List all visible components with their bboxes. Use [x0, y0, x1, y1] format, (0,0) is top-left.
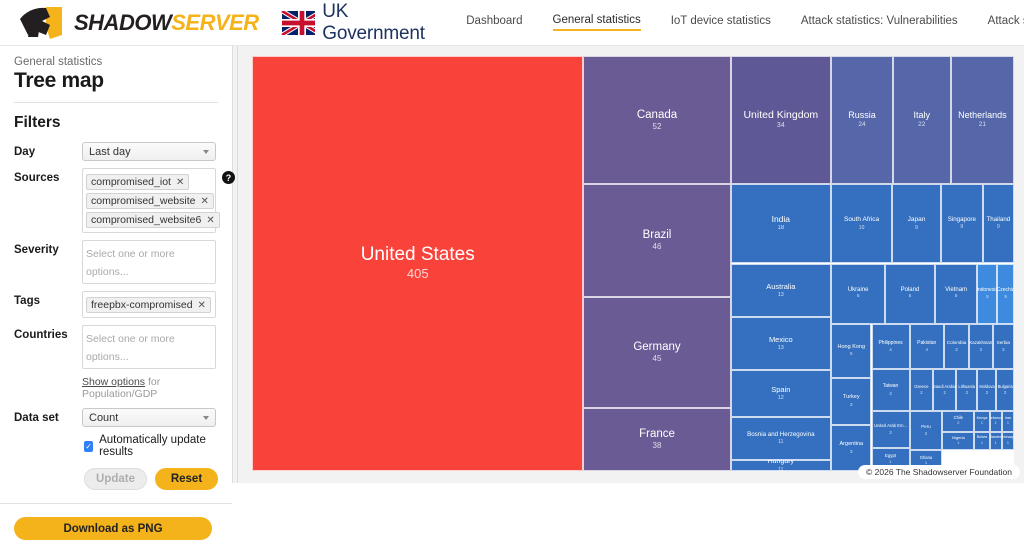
treemap-cell[interactable]: France38 [583, 408, 730, 471]
filter-row-tags: Tags freepbx-compromised✕ [14, 291, 218, 318]
copyright-label: © 2026 The Shadowserver Foundation [858, 465, 1020, 479]
remove-token-icon[interactable]: ✕ [206, 215, 214, 226]
dataset-label: Data set [14, 408, 82, 424]
treemap-cell[interactable]: Hungary11 [731, 460, 832, 471]
treemap-cell-label: Russia [848, 111, 876, 120]
treemap-cell-value: 1 [957, 441, 959, 446]
treemap-cell-label: Indonesia [977, 288, 997, 293]
treemap-cell[interactable]: Peru2 [910, 411, 943, 450]
nav-item-attack-statistics-devices[interactable]: Attack statistics: Devices [988, 15, 1024, 30]
treemap-cell-label: Norway [1002, 436, 1014, 440]
treemap-cell-value: 9 [915, 225, 918, 231]
treemap-cell-label: Italy [914, 111, 931, 120]
treemap-cell-value: 1 [1007, 421, 1009, 426]
brand-server-text: SERVER [171, 10, 258, 35]
treemap-cell[interactable]: Japan9 [892, 184, 941, 264]
treemap-cell-label: France [639, 428, 675, 440]
treemap-cell-value: 2 [943, 390, 945, 395]
breadcrumb: General statistics [14, 56, 218, 68]
treemap-cell-label: India [772, 215, 790, 224]
treemap-cell-label: Thailand [986, 217, 1010, 224]
shadowserver-logo-icon [16, 5, 68, 41]
treemap-cell[interactable]: Kazakhstan3 [969, 324, 993, 370]
remove-token-icon[interactable]: ✕ [200, 196, 208, 207]
treemap-cell-value: 3 [980, 347, 982, 352]
treemap-cell[interactable]: Russia24 [831, 56, 893, 184]
treemap-cell-value: 12 [778, 395, 784, 402]
nav-item-iot-device-statistics[interactable]: IoT device statistics [671, 15, 771, 30]
treemap-cell-value: 24 [858, 121, 865, 129]
treemap-cell-label: Spain [771, 386, 790, 394]
divider [14, 102, 218, 103]
sources-label: Sources [14, 168, 82, 184]
severity-label: Severity [14, 240, 82, 256]
filter-row-dataset: Data set Count [14, 408, 218, 427]
treemap-cell[interactable]: Italy22 [893, 56, 951, 184]
treemap-cell-value: 1 [995, 421, 997, 426]
treemap-cell-label: Argentina [840, 442, 864, 448]
treemap-cell-label: Greece [914, 385, 928, 390]
treemap-cell[interactable]: United Arab Em...3 [872, 411, 910, 448]
sources-token[interactable]: compromised_website6✕ [86, 212, 220, 228]
treemap-cell-label: Colombia [947, 341, 966, 346]
remove-token-icon[interactable]: ✕ [198, 300, 206, 311]
treemap-cell-label: Pakistan [917, 341, 936, 346]
treemap-cell-value: 9 [997, 224, 1000, 230]
treemap-cell-label: Kazakhstan [969, 341, 992, 346]
treemap-cell[interactable]: Brazil46 [583, 184, 730, 297]
treemap-cell[interactable]: Iran1 [1002, 411, 1014, 432]
countries-label: Countries [14, 325, 82, 341]
tags-token-label: freepbx-compromised [91, 299, 193, 311]
sources-token-label: compromised_website6 [91, 214, 201, 226]
treemap-cell[interactable]: Vietnam5 [935, 264, 978, 324]
severity-placeholder: Select one or more options... [86, 248, 175, 278]
treemap-cell-value: 46 [653, 242, 662, 252]
treemap-cell-label: United Arab Em... [874, 424, 907, 428]
treemap-cell-label: Moldova [979, 385, 994, 389]
brand: SHADOWSERVER [0, 5, 259, 41]
tags-label: Tags [14, 291, 82, 307]
treemap-cell-value: 18 [777, 225, 784, 232]
countries-placeholder: Select one or more options... [86, 333, 175, 363]
treemap-cell[interactable]: South Africa10 [831, 184, 892, 264]
help-icon[interactable]: ? [222, 171, 235, 184]
treemap-cell-label: Canada [637, 109, 677, 121]
treemap-cell-label: Serbia [997, 341, 1010, 346]
treemap-cell[interactable]: Hong Kong5 [831, 324, 871, 378]
treemap-cell[interactable]: Serbia3 [993, 324, 1014, 370]
treemap-cell-label: South Africa [844, 217, 879, 224]
filter-row-sources: Sources compromised_iot✕ compromised_web… [14, 168, 218, 233]
treemap-cell-value: 3 [889, 391, 891, 396]
auto-update-checkbox[interactable]: ✓ [84, 441, 93, 452]
chevron-down-icon [203, 150, 209, 154]
reset-button[interactable]: Reset [155, 468, 218, 490]
auto-update-row: ✓ Automatically update results [84, 434, 218, 458]
treemap-cell-value: 3 [850, 449, 853, 454]
treemap-cell-label: Turkey [843, 395, 860, 401]
treemap-cell-label: Kenya [977, 416, 988, 420]
treemap-cell-value: 34 [777, 122, 785, 130]
day-label: Day [14, 142, 82, 158]
treemap-cell-value: 13 [778, 345, 784, 352]
treemap-cell-value: 5 [850, 351, 853, 356]
nav-item-attack-statistics-vulnerabilities[interactable]: Attack statistics: Vulnerabilities [801, 15, 958, 30]
treemap-cell[interactable]: Colombia3 [944, 324, 969, 370]
treemap-cell-label: Peru [921, 425, 931, 430]
page-title: Tree map [14, 69, 218, 93]
treemap-cell-value: 1 [995, 441, 997, 446]
dataset-select[interactable]: Count [82, 408, 216, 427]
treemap-cell[interactable]: Norway1 [1002, 432, 1014, 451]
auto-update-label: Automatically update results [99, 434, 218, 458]
chevron-down-icon [203, 416, 209, 420]
filter-row-countries: Countries Select one or more options... [14, 325, 218, 369]
main-nav: Dashboard General statistics IoT device … [466, 14, 1024, 31]
treemap-cell-label: Taiwan [883, 384, 899, 389]
filters-heading: Filters [14, 114, 218, 132]
treemap-cell-value: 5 [986, 294, 989, 299]
treemap-cell-value: 4 [889, 347, 891, 352]
treemap-cell-value: 10 [859, 225, 865, 231]
treemap-cell-label: Vietnam [945, 287, 967, 293]
divider [0, 503, 232, 504]
treemap-cell-label: Lebanon [990, 417, 1002, 421]
treemap-cell[interactable]: Canada52 [583, 56, 730, 184]
treemap-cell-label: Ukraine [848, 287, 869, 293]
treemap-cell-label: Bulgaria [998, 385, 1013, 389]
treemap-cell-value: 1 [1007, 441, 1009, 446]
treemap-cell-label: Nigeria [952, 436, 965, 440]
filter-actions: Update Reset [84, 468, 218, 490]
treemap-cell-value: 3 [1002, 347, 1004, 352]
treemap-cell[interactable]: Spain12 [731, 370, 832, 418]
treemap-cell[interactable]: Philippines4 [872, 324, 910, 370]
treemap-cell-value: 1 [981, 441, 983, 446]
treemap-cell[interactable]: Germany45 [583, 297, 730, 408]
treemap-cell[interactable]: Kenya1 [974, 411, 989, 432]
treemap-cell-value: 405 [407, 266, 429, 282]
treemap-cell[interactable]: Chile2 [942, 411, 974, 432]
treemap-cell-label: Philippines [878, 341, 902, 346]
uk-government-label: UK Government [322, 1, 432, 45]
treemap-cell[interactable]: Mexico13 [731, 317, 832, 369]
treemap-cell-label: Saudi Arabia [933, 385, 956, 389]
treemap-cell-value: 11 [778, 439, 783, 445]
treemap-cell[interactable]: Indonesia5 [977, 264, 997, 324]
treemap-cell-value: 5 [909, 294, 912, 300]
nav-item-general-statistics[interactable]: General statistics [553, 14, 641, 31]
treemap-cell-label: Hong Kong [838, 345, 866, 351]
treemap-cell[interactable]: India18 [731, 184, 832, 264]
treemap-cell-label: Japan [908, 217, 926, 224]
treemap-cell-label: Hungary [768, 460, 794, 466]
treemap-cell-value: 45 [653, 354, 662, 364]
treemap-cell-value: 1 [981, 421, 983, 426]
filter-row-severity: Severity Select one or more options... [14, 240, 218, 284]
treemap-cell-value: 3 [955, 347, 957, 352]
brand-shadow-text: SHADOW [74, 10, 171, 35]
uk-government-badge: UK Government [281, 1, 433, 45]
treemap-cell[interactable]: Czechia5 [997, 264, 1014, 324]
treemap-cell-value: 2 [957, 421, 959, 426]
treemap-cell[interactable]: Sweden1 [990, 432, 1002, 451]
treemap-cell[interactable]: Moldova2 [977, 369, 996, 411]
treemap-cell-value: 5 [857, 294, 860, 300]
treemap-cell-value: 52 [653, 122, 662, 132]
app-header: SHADOWSERVER UK Government Dashboard Gen… [0, 0, 1024, 46]
treemap-cell[interactable]: Bosnia and Herzegovina11 [731, 417, 832, 459]
treemap-cell-value: 3 [850, 402, 853, 407]
treemap-chart[interactable]: United States405Canada52Brazil46Germany4… [252, 56, 1014, 471]
treemap-cell-value: 21 [979, 121, 986, 129]
treemap-cell-label: Poland [901, 287, 920, 293]
treemap-cell[interactable]: Taiwan3 [872, 369, 910, 411]
treemap-cell-value: 4 [926, 347, 928, 352]
treemap-cell[interactable]: Poland5 [885, 264, 935, 324]
treemap-cell[interactable]: Bolivia1 [974, 432, 989, 451]
treemap-cell[interactable]: Australia13 [731, 264, 832, 318]
treemap-cell-label: Iran [1005, 417, 1011, 421]
sources-token-label: compromised_website [91, 195, 195, 207]
remove-token-icon[interactable]: ✕ [176, 177, 184, 188]
treemap-cell-value: 5 [955, 294, 958, 300]
update-button[interactable]: Update [84, 468, 147, 490]
treemap-cell[interactable]: Saudi Arabia2 [933, 369, 956, 411]
treemap-cell[interactable]: Greece2 [910, 369, 934, 411]
day-select[interactable]: Last day [82, 142, 216, 161]
treemap-cell-value: 3 [889, 430, 891, 435]
treemap-cell-label: Singapore [948, 217, 976, 224]
brand-wordmark: SHADOWSERVER [74, 10, 259, 36]
treemap-panel: United States405Canada52Brazil46Germany4… [238, 46, 1024, 483]
treemap-cell-value: 38 [653, 441, 662, 451]
treemap-cell[interactable]: Singapore9 [941, 184, 983, 264]
treemap-cell-value: 13 [778, 292, 784, 299]
tags-input[interactable]: freepbx-compromised✕ [82, 291, 216, 318]
treemap-cell-label: Czechia [997, 288, 1014, 293]
treemap-cell-value: 2 [966, 390, 968, 395]
treemap-cell[interactable]: United States405 [252, 56, 583, 471]
treemap-cell-value: 2 [986, 390, 988, 395]
treemap-cell-value: 2 [920, 390, 922, 395]
filters-sidebar: General statistics Tree map Filters Day … [0, 46, 232, 483]
uk-flag-icon [281, 11, 316, 35]
treemap-cell[interactable]: Ukraine5 [831, 264, 885, 324]
treemap-cell-label: Netherlands [958, 111, 1007, 120]
treemap-cell-value: 9 [960, 224, 963, 230]
treemap-cell[interactable]: Netherlands21 [951, 56, 1014, 184]
treemap-cell-label: United Kingdom [743, 110, 818, 121]
treemap-cell-label: Bolivia [977, 436, 988, 440]
treemap-cell-label: Australia [766, 283, 795, 291]
sources-token-label: compromised_iot [91, 176, 171, 188]
treemap-cell-value: 5 [1004, 294, 1007, 299]
tags-token[interactable]: freepbx-compromised✕ [86, 297, 211, 313]
treemap-cell[interactable]: United Kingdom34 [731, 56, 832, 184]
sources-input[interactable]: compromised_iot✕ compromised_website✕ co… [82, 168, 216, 233]
treemap-cell-label: Mexico [769, 336, 793, 344]
treemap-cell[interactable]: Lithuania2 [956, 369, 977, 411]
sources-token[interactable]: compromised_website✕ [86, 193, 214, 209]
sources-token[interactable]: compromised_iot✕ [86, 174, 189, 190]
treemap-cell[interactable]: Pakistan4 [910, 324, 944, 370]
treemap-cell-value: 2 [925, 431, 927, 436]
treemap-cell-label: Germany [633, 341, 680, 353]
treemap-cell[interactable]: Thailand9 [983, 184, 1014, 264]
treemap-cell[interactable]: Bulgaria2 [996, 369, 1014, 411]
filter-row-day: Day Last day 16 [14, 142, 218, 161]
treemap-cell[interactable]: Nigeria1 [942, 432, 974, 451]
treemap-cell-label: Bosnia and Herzegovina [747, 432, 814, 439]
treemap-cell-value: 2 [1004, 390, 1006, 395]
treemap-cell[interactable]: Lebanon1 [990, 411, 1002, 432]
treemap-cell[interactable]: Turkey3 [831, 378, 871, 426]
day-select-value: Last day [89, 146, 131, 158]
download-png-button[interactable]: Download as PNG [14, 517, 212, 540]
treemap-cell-value: 11 [778, 467, 783, 471]
show-options-row: Show options for Population/GDP [82, 376, 218, 400]
dataset-select-value: Count [89, 412, 118, 424]
severity-input[interactable]: Select one or more options... [82, 240, 216, 284]
treemap-cell-label: Lithuania [958, 385, 975, 389]
treemap-cell-label: Brazil [643, 229, 672, 241]
countries-input[interactable]: Select one or more options... [82, 325, 216, 369]
nav-item-dashboard[interactable]: Dashboard [466, 15, 522, 30]
show-options-link[interactable]: Show options [82, 376, 145, 388]
treemap-cell-value: 22 [918, 121, 925, 129]
treemap-cell-label: Sweden [990, 436, 1002, 440]
treemap-cell-label: United States [361, 245, 475, 265]
